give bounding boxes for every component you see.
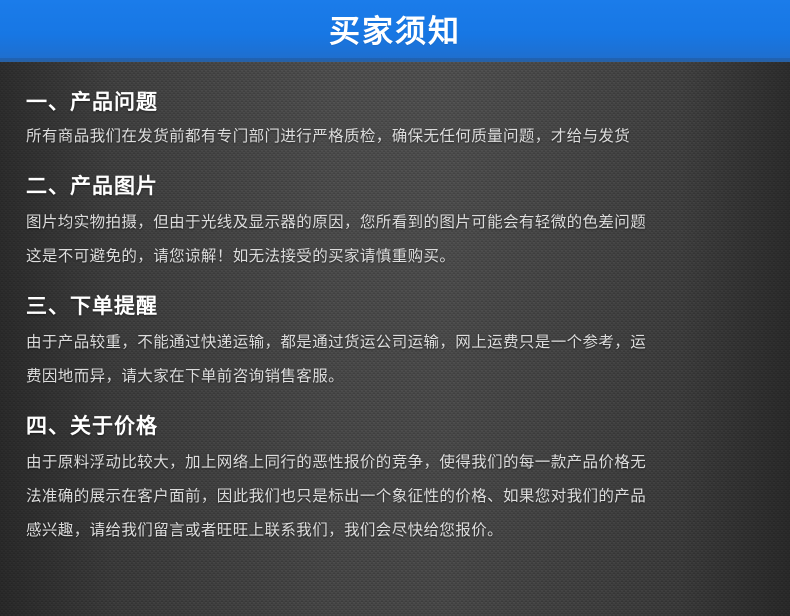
section-body-line: 法准确的展示在客户面前，因此我们也只是标出一个象征性的价格、如果您对我们的产品 [26,480,764,514]
notice-section-order-reminder: 三、下单提醒 由于产品较重，不能通过快递运输，都是通过货运公司运输，网上运费只是… [26,286,764,394]
section-body-line: 所有商品我们在发货前都有专门部门进行严格质检，确保无任何质量问题，才给与发货 [26,120,764,154]
section-body-product-issues: 所有商品我们在发货前都有专门部门进行严格质检，确保无任何质量问题，才给与发货 [26,120,764,154]
section-body-line: 这是不可避免的，请您谅解！如无法接受的买家请慎重购买。 [26,240,764,274]
section-body-line: 费因地而异，请大家在下单前咨询销售客服。 [26,360,764,394]
section-body-line: 由于产品较重，不能通过快递运输，都是通过货运公司运输，网上运费只是一个参考，运 [26,326,764,360]
page-title: 买家须知 [329,16,461,47]
section-heading-about-price: 四、关于价格 [26,406,764,440]
notice-section-about-price: 四、关于价格 由于原料浮动比较大，加上网络上同行的恶性报价的竞争，使得我们的每一… [26,406,764,548]
buyer-notice-page: 买家须知 一、产品问题 所有商品我们在发货前都有专门部门进行严格质检，确保无任何… [0,0,790,616]
section-body-line: 由于原料浮动比较大，加上网络上同行的恶性报价的竞争，使得我们的每一款产品价格无 [26,446,764,480]
section-heading-order-reminder: 三、下单提醒 [26,286,764,320]
section-body-line: 感兴趣，请给我们留言或者旺旺上联系我们，我们会尽快给您报价。 [26,514,764,548]
section-heading-product-images: 二、产品图片 [26,166,764,200]
notice-section-product-images: 二、产品图片 图片均实物拍摄，但由于光线及显示器的原因，您所看到的图片可能会有轻… [26,166,764,274]
section-body-order-reminder: 由于产品较重，不能通过快递运输，都是通过货运公司运输，网上运费只是一个参考，运 … [26,326,764,394]
page-header-band: 买家须知 [0,0,790,62]
section-body-about-price: 由于原料浮动比较大，加上网络上同行的恶性报价的竞争，使得我们的每一款产品价格无 … [26,446,764,548]
section-body-product-images: 图片均实物拍摄，但由于光线及显示器的原因，您所看到的图片可能会有轻微的色差问题 … [26,206,764,274]
section-heading-product-issues: 一、产品问题 [26,82,764,116]
section-body-line: 图片均实物拍摄，但由于光线及显示器的原因，您所看到的图片可能会有轻微的色差问题 [26,206,764,240]
notice-content-area: 一、产品问题 所有商品我们在发货前都有专门部门进行严格质检，确保无任何质量问题，… [0,62,790,616]
notice-section-product-issues: 一、产品问题 所有商品我们在发货前都有专门部门进行严格质检，确保无任何质量问题，… [26,82,764,154]
